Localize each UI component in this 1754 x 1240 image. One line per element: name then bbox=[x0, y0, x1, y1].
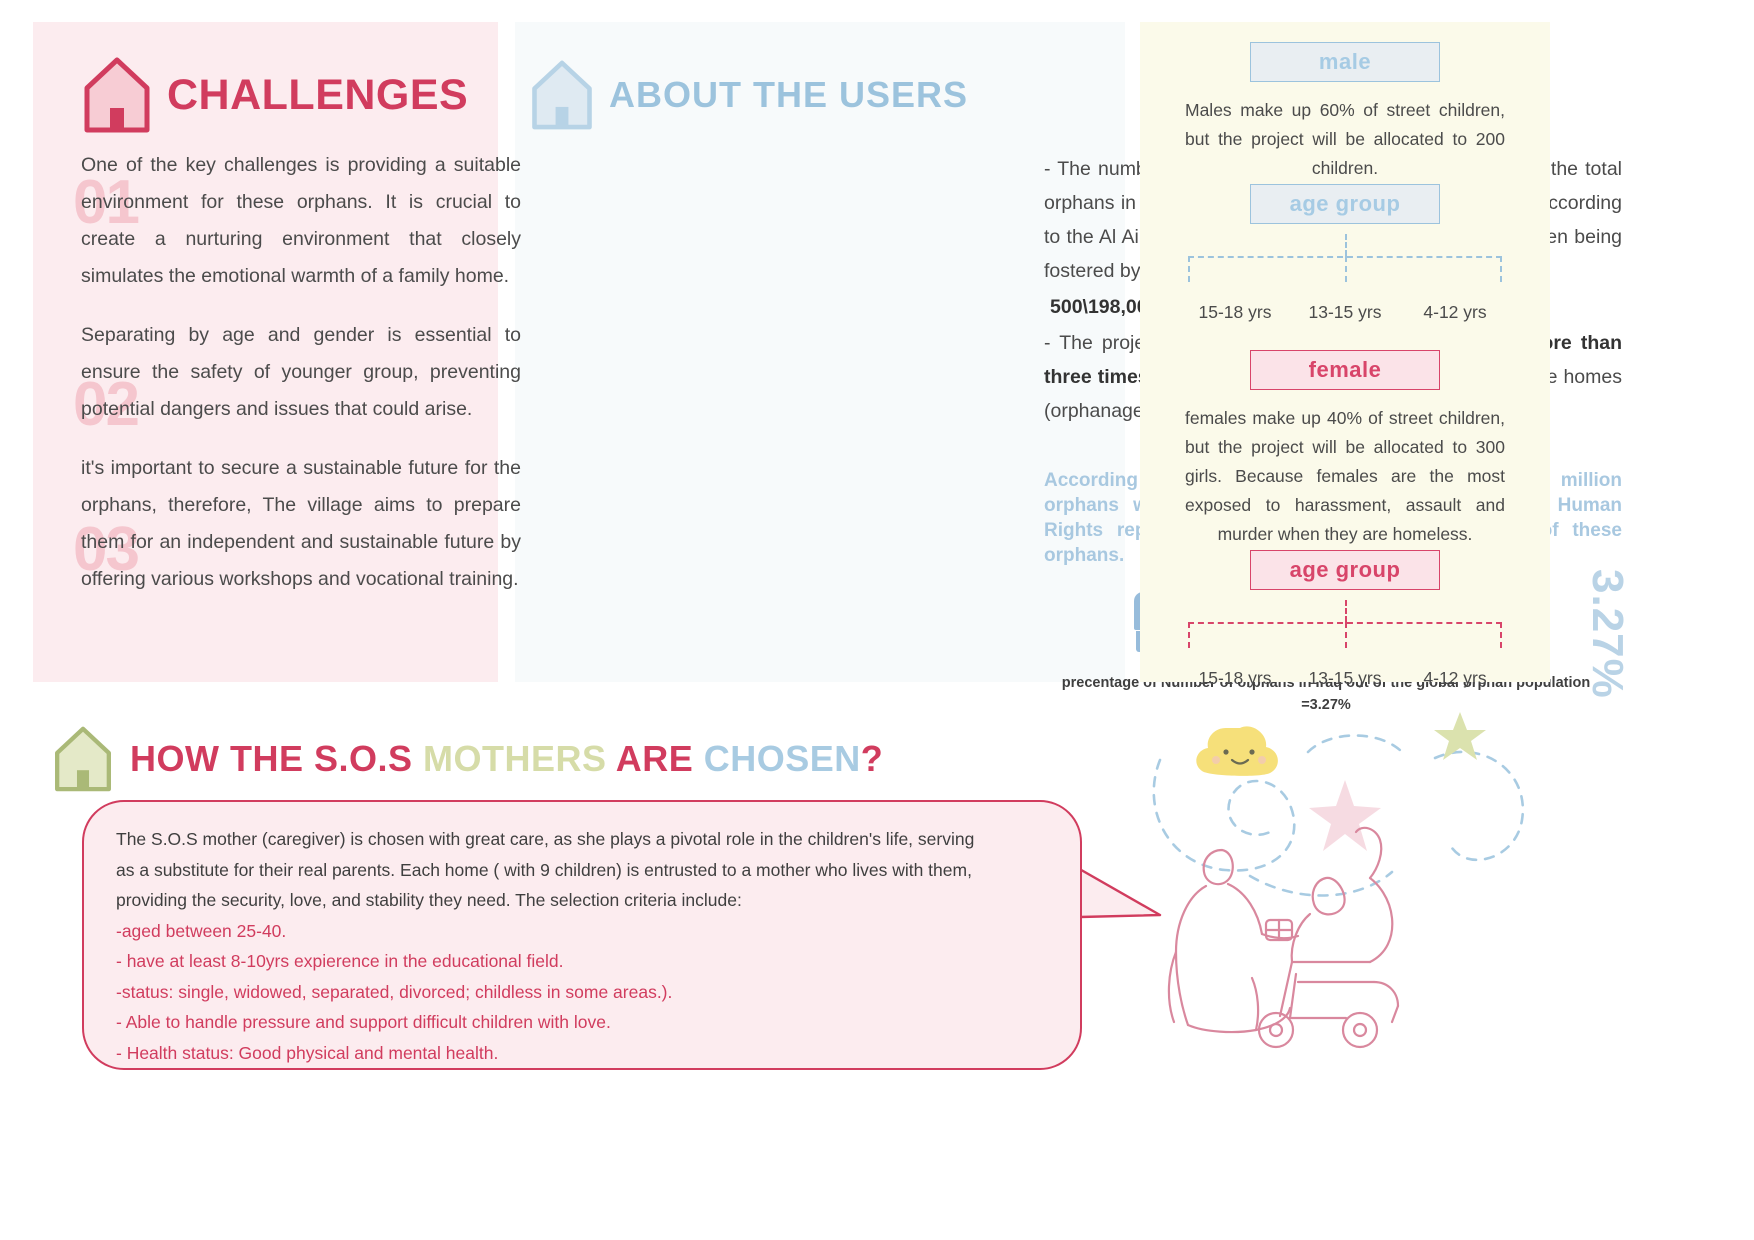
age-label: 13-15 yrs bbox=[1290, 668, 1400, 689]
status-badge-male: male bbox=[1250, 42, 1440, 82]
house-icon bbox=[529, 56, 595, 134]
about-users-panel: ABOUT THE USERS - The number of orphans … bbox=[515, 22, 1125, 682]
criteria-item: - Health status: Good physical and menta… bbox=[116, 1038, 1040, 1069]
female-block: female females make up 40% of street chi… bbox=[1140, 350, 1550, 549]
title-segment-1: HOW THE S.O.S bbox=[130, 738, 413, 779]
sos-mothers-header: HOW THE S.O.S MOTHERS ARE CHOSEN? bbox=[52, 722, 883, 796]
age-group-tree-male bbox=[1180, 234, 1510, 296]
age-labels-female: 15-18 yrs 13-15 yrs 4-12 yrs bbox=[1180, 668, 1510, 689]
status-badge-age-group-female: age group bbox=[1250, 550, 1440, 590]
challenge-paragraph-3: it's important to secure a sustainable f… bbox=[81, 450, 521, 598]
challenges-header: CHALLENGES bbox=[81, 54, 468, 136]
house-icon bbox=[52, 722, 114, 796]
criteria-item: - Able to handle pressure and support di… bbox=[116, 1007, 1040, 1038]
male-age-group-block: age group 15-18 yrs 13-15 yrs 4-12 yrs bbox=[1140, 184, 1550, 323]
female-age-group-block: age group 15-18 yrs 13-15 yrs 4-12 yrs bbox=[1140, 550, 1550, 689]
speech-bubble-content: The S.O.S mother (caregiver) is chosen w… bbox=[116, 824, 1040, 1068]
sos-mother-speech-bubble: The S.O.S mother (caregiver) is chosen w… bbox=[82, 800, 1082, 1070]
female-description: females make up 40% of street children, … bbox=[1185, 404, 1505, 549]
bubble-line: as a substitute for their real parents. … bbox=[116, 855, 1040, 886]
bubble-line: providing the security, love, and stabil… bbox=[116, 885, 1040, 916]
challenge-paragraph-2: Separating by age and gender is essentia… bbox=[81, 317, 521, 428]
page-title: CHALLENGES bbox=[167, 74, 468, 117]
decorative-illustration bbox=[1130, 700, 1690, 1100]
challenges-body: One of the key challenges is providing a… bbox=[81, 147, 521, 598]
users-header: ABOUT THE USERS bbox=[529, 56, 968, 134]
status-badge-age-group-male: age group bbox=[1250, 184, 1440, 224]
challenges-panel: CHALLENGES 01 02 03 One of the key chall… bbox=[33, 22, 498, 682]
star-icon bbox=[1309, 780, 1381, 851]
age-labels-male: 15-18 yrs 13-15 yrs 4-12 yrs bbox=[1180, 302, 1510, 323]
bubble-line: The S.O.S mother (caregiver) is chosen w… bbox=[116, 824, 1040, 855]
age-label: 15-18 yrs bbox=[1180, 668, 1290, 689]
male-description: Males make up 60% of street children, bu… bbox=[1185, 96, 1505, 183]
criteria-item: -aged between 25-40. bbox=[116, 916, 1040, 947]
age-label: 15-18 yrs bbox=[1180, 302, 1290, 323]
criteria-item: -status: single, widowed, separated, div… bbox=[116, 977, 1040, 1008]
age-group-tree-female bbox=[1180, 600, 1510, 662]
section-title-users: ABOUT THE USERS bbox=[609, 77, 968, 113]
house-icon bbox=[81, 54, 153, 136]
gender-breakdown-panel: male Males make up 60% of street childre… bbox=[1140, 22, 1550, 682]
challenge-paragraph-1: One of the key challenges is providing a… bbox=[81, 147, 521, 295]
criteria-item: - have at least 8-10yrs expierence in th… bbox=[116, 946, 1040, 977]
status-badge-female: female bbox=[1250, 350, 1440, 390]
male-block: male Males make up 60% of street childre… bbox=[1140, 42, 1550, 183]
title-question-mark: ? bbox=[861, 738, 884, 779]
title-segment-3: ARE bbox=[616, 738, 694, 779]
age-label: 13-15 yrs bbox=[1290, 302, 1400, 323]
cloud-icon bbox=[1196, 726, 1278, 775]
age-label: 4-12 yrs bbox=[1400, 302, 1510, 323]
title-segment-2: MOTHERS bbox=[423, 738, 607, 779]
sos-mothers-title: HOW THE S.O.S MOTHERS ARE CHOSEN? bbox=[130, 741, 883, 777]
infographic-page: CHALLENGES 01 02 03 One of the key chall… bbox=[0, 0, 1754, 1240]
age-label: 4-12 yrs bbox=[1400, 668, 1510, 689]
family-stroller-illustration bbox=[1169, 828, 1398, 1047]
title-segment-4: CHOSEN bbox=[704, 738, 861, 779]
